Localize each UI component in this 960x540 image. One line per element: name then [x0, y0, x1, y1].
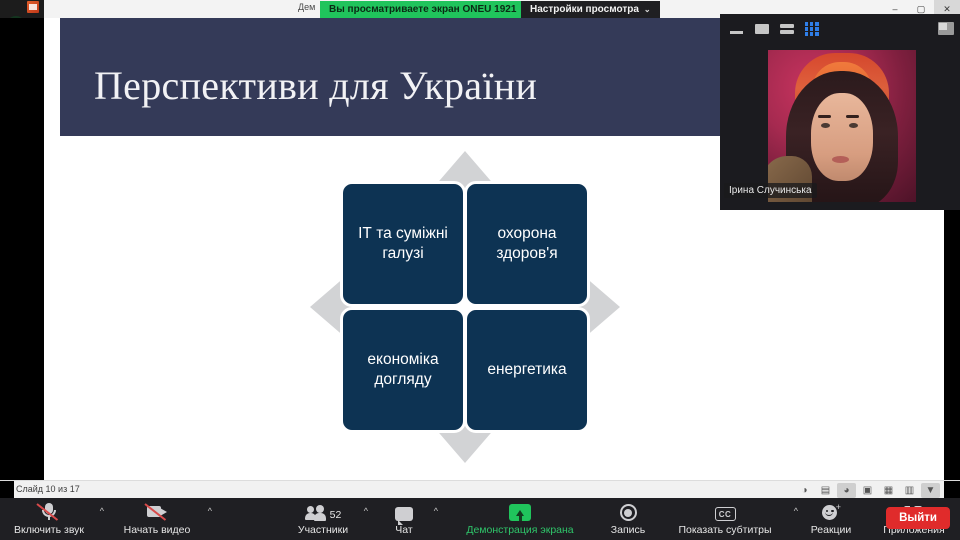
leave-meeting-button[interactable]: Выйти [886, 507, 950, 529]
reactions-button[interactable]: + Реакции [802, 498, 860, 540]
video-options-caret-icon[interactable]: ^ [208, 506, 212, 516]
captions-caret-icon[interactable]: ^ [794, 506, 798, 516]
chevron-down-icon: ⌄ [644, 5, 651, 14]
participants-button-label: Участники [298, 524, 348, 536]
strip-view-button[interactable] [778, 22, 795, 37]
participant-video-panel[interactable]: Ірина Случинська [720, 14, 960, 210]
share-screen-icon [509, 502, 531, 521]
chat-button[interactable]: Чат ^ [384, 498, 424, 540]
participant-brow-left [818, 115, 831, 118]
audio-options-caret-icon[interactable]: ^ [100, 506, 104, 516]
status-bar-right-black [944, 481, 960, 498]
slide-counter: Слайд 10 из 17 [16, 484, 80, 494]
chat-bubble-icon [395, 502, 413, 521]
diagram-box-bottom-right: енергетика [464, 307, 590, 433]
zoom-bottom-toolbar: Включить звук ^ Начать видео ^ 52 Участн… [0, 498, 960, 540]
record-button-label: Запись [611, 524, 645, 536]
powerpoint-view-icons: ◑ ▤ ◕ ▣ ▦ ▥ ▼ [795, 481, 940, 498]
participant-face [811, 93, 873, 181]
strip-view-icon [780, 24, 794, 35]
gallery-view-button[interactable] [803, 22, 820, 37]
chat-button-label: Чат [395, 524, 412, 536]
notes-icon[interactable]: ▤ [816, 483, 835, 498]
speaker-view-icon [755, 24, 769, 34]
record-icon [620, 502, 637, 521]
diagram-box-top-left: ІТ та суміжні галузі [340, 181, 466, 307]
fullscreen-icon[interactable] [938, 22, 954, 35]
powerpoint-app-icon [27, 1, 39, 13]
remote-document-title: Дем [298, 2, 315, 12]
captions-button-label: Показать субтитры [678, 524, 771, 536]
video-panel-header [720, 14, 960, 44]
reactions-button-label: Реакции [811, 524, 852, 536]
powerpoint-status-bar: Слайд 10 из 17 ◑ ▤ ◕ ▣ ▦ ▥ ▼ [0, 480, 960, 498]
minimize-panel-button[interactable] [728, 22, 745, 37]
captions-button[interactable]: CC Показать субтитры ^ [666, 498, 784, 540]
record-button[interactable]: Запись [602, 498, 654, 540]
participants-button[interactable]: 52 Участники ^ [292, 498, 354, 540]
comments-icon[interactable]: ◕ [837, 483, 856, 498]
people-icon: 52 [305, 502, 342, 521]
grid-view-icon [805, 22, 819, 36]
speaker-view-button[interactable] [753, 22, 770, 37]
accessibility-icon[interactable]: ◑ [795, 483, 814, 498]
four-quadrant-diagram: ІТ та суміжні галузі охорона здоров'я ек… [310, 151, 620, 463]
start-video-button[interactable]: Начать видео ^ [116, 498, 198, 540]
participants-caret-icon[interactable]: ^ [364, 506, 368, 516]
share-screen-button[interactable]: Демонстрация экрана [450, 498, 590, 540]
closed-caption-icon: CC [715, 502, 736, 521]
participants-count: 52 [330, 509, 342, 521]
microphone-muted-icon [38, 502, 60, 521]
screen-share-banner-text: Вы просматриваете экран ONEU 1921 [329, 4, 516, 15]
slideshow-icon[interactable]: ▼ [921, 483, 940, 498]
camera-off-icon [146, 502, 168, 521]
share-screen-button-label: Демонстрация экрана [466, 524, 573, 536]
participant-collar [768, 156, 812, 202]
unmute-button[interactable]: Включить звук ^ [8, 498, 90, 540]
smiley-plus-icon: + [821, 502, 841, 521]
participant-brow-right [846, 115, 859, 118]
slide-title: Перспективи для України [94, 62, 537, 109]
cc-glyph: CC [715, 507, 736, 521]
slide-sorter-icon[interactable]: ▦ [879, 483, 898, 498]
unmute-button-label: Включить звук [14, 524, 84, 536]
diagram-box-bottom-left: економіка догляду [340, 307, 466, 433]
view-options-button[interactable]: Настройки просмотра ⌄ [521, 1, 660, 18]
letterbox-left [0, 18, 44, 480]
participant-video-tile[interactable] [768, 50, 916, 202]
zoom-meeting-window: Дем – ▢ ✕ Перспективи для України ІТ та … [0, 0, 960, 540]
minimize-icon [730, 31, 743, 34]
diagram-box-top-right: охорона здоров'я [464, 181, 590, 307]
normal-view-icon[interactable]: ▣ [858, 483, 877, 498]
screen-share-banner: Вы просматриваете экран ONEU 1921 [320, 1, 525, 18]
view-options-label: Настройки просмотра [530, 4, 639, 15]
status-bar-left-black [0, 481, 14, 498]
start-video-button-label: Начать видео [124, 524, 191, 536]
chat-caret-icon[interactable]: ^ [434, 506, 438, 516]
reading-view-icon[interactable]: ▥ [900, 483, 919, 498]
